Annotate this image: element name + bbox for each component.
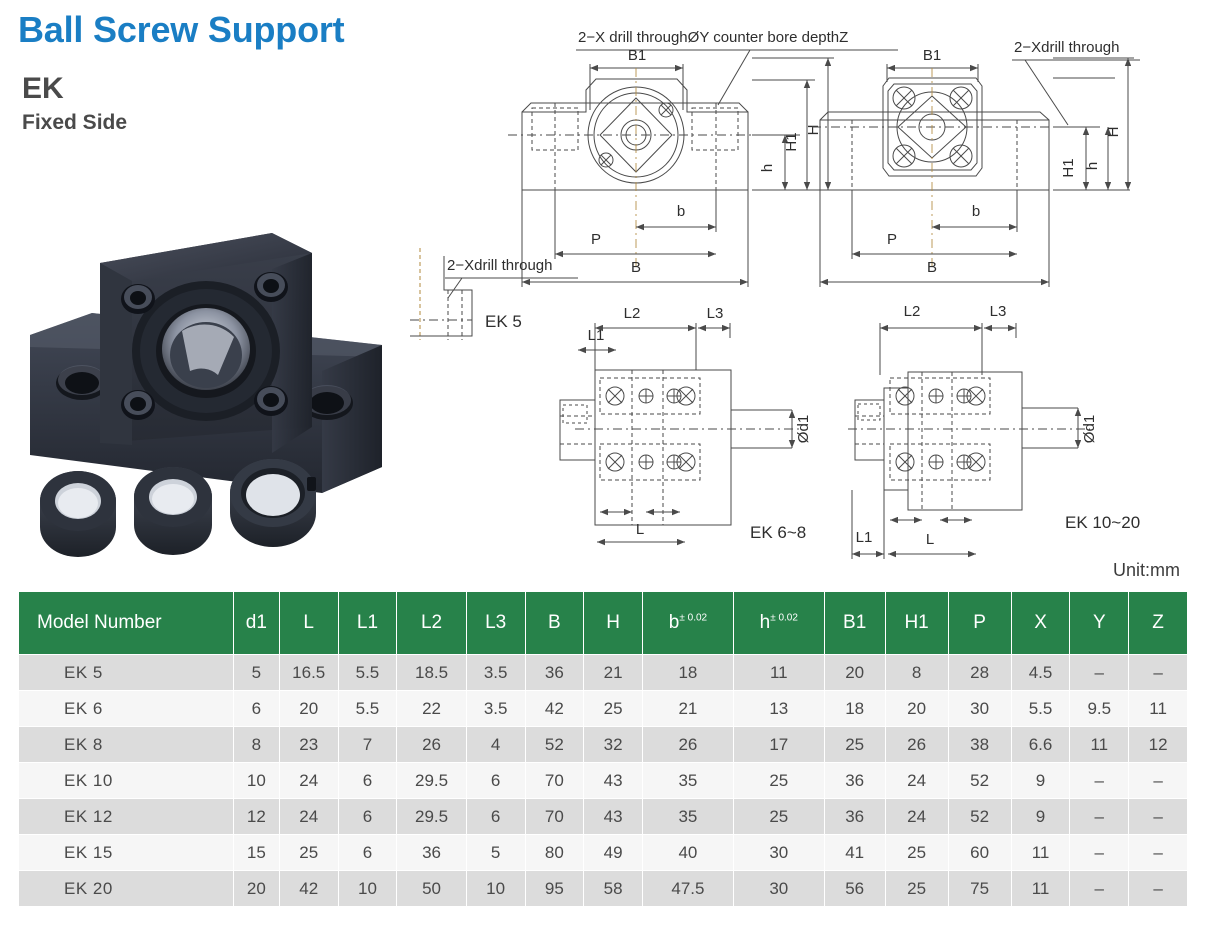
cell-H: 43 [584,763,642,798]
cell-L3: 3.5 [467,655,525,690]
cell-H1: 8 [886,655,948,690]
svg-text:L3: L3 [990,303,1007,320]
cell-H: 21 [584,655,642,690]
cell-Y: – [1070,835,1128,870]
cell-model: EK 15 [19,835,233,870]
cell-L2: 29.5 [397,763,465,798]
table-row: EK 202042105010955847.53056257511–– [19,871,1187,906]
column-header-h: h± 0.02 [734,592,824,654]
column-header-B1: B1 [825,592,885,654]
cell-B: 70 [526,763,584,798]
cell-h: 25 [734,799,824,834]
svg-text:P: P [591,231,601,248]
cell-d1: 6 [234,691,279,726]
cell-L: 25 [280,835,338,870]
cell-P: 60 [949,835,1011,870]
cell-L3: 4 [467,727,525,762]
cell-Z: – [1129,763,1187,798]
column-header-Y: Y [1070,592,1128,654]
engineering-drawings: 2−X drill throughØY counter bore depthZ … [400,20,1195,565]
cell-b: 18 [643,655,733,690]
cell-X: 11 [1012,871,1070,906]
column-header-d1: d1 [234,592,279,654]
cell-L: 20 [280,691,338,726]
page-subtitle: Fixed Side [22,111,344,134]
specification-table: Model Numberd1LL1L2L3BHb± 0.02h± 0.02B1H… [18,591,1188,907]
cell-B1: 25 [825,727,885,762]
column-header-L2: L2 [397,592,465,654]
cell-model: EK 20 [19,871,233,906]
cell-H1: 25 [886,871,948,906]
cell-L1: 7 [339,727,397,762]
cell-L2: 29.5 [397,799,465,834]
cell-B: 36 [526,655,584,690]
cell-L: 16.5 [280,655,338,690]
cell-H1: 24 [886,799,948,834]
cell-Y: – [1070,799,1128,834]
model-series-title: EK [22,72,344,105]
cell-Z: – [1129,799,1187,834]
cell-Z: – [1129,655,1187,690]
cell-P: 75 [949,871,1011,906]
column-header-L1: L1 [339,592,397,654]
column-header-H1: H1 [886,592,948,654]
cell-L2: 22 [397,691,465,726]
cell-B1: 36 [825,799,885,834]
cell-H: 43 [584,799,642,834]
cell-d1: 15 [234,835,279,870]
cell-P: 30 [949,691,1011,726]
cell-L2: 26 [397,727,465,762]
cell-b: 35 [643,763,733,798]
svg-text:B: B [927,259,937,276]
cell-L2: 36 [397,835,465,870]
caption-ek5: EK 5 [485,312,522,331]
cell-L2: 50 [397,871,465,906]
cell-X: 9 [1012,799,1070,834]
cell-model: EK 6 [19,691,233,726]
column-header-b: b± 0.02 [643,592,733,654]
svg-text:L3: L3 [707,305,724,322]
svg-text:L2: L2 [624,305,641,322]
column-header-H: H [584,592,642,654]
cell-P: 38 [949,727,1011,762]
cell-B1: 18 [825,691,885,726]
cell-d1: 10 [234,763,279,798]
table-row: EK 66205.5223.5422521131820305.59.511 [19,691,1187,726]
cell-d1: 5 [234,655,279,690]
svg-text:B1: B1 [628,47,646,64]
unit-label: Unit:mm [1113,560,1180,581]
cell-X: 9 [1012,763,1070,798]
cell-L1: 6 [339,799,397,834]
product-photo [22,205,392,565]
page-title: Ball Screw Support [18,10,344,50]
svg-text:L2: L2 [904,303,921,320]
cell-L: 23 [280,727,338,762]
table-row: EK 88237264523226172526386.61112 [19,727,1187,762]
svg-text:h: h [759,164,776,172]
cell-L1: 6 [339,763,397,798]
cell-model: EK 10 [19,763,233,798]
cell-model: EK 8 [19,727,233,762]
cell-d1: 12 [234,799,279,834]
column-header-B: B [526,592,584,654]
svg-text:H1: H1 [783,132,800,151]
cell-L3: 3.5 [467,691,525,726]
svg-text:L: L [926,531,934,548]
note-counter-bore: 2−X drill throughØY counter bore depthZ [578,29,848,46]
cell-L: 24 [280,799,338,834]
svg-text:L1: L1 [856,529,873,546]
svg-text:P: P [887,231,897,248]
cell-B1: 36 [825,763,885,798]
note-drill-through-left: 2−Xdrill through [447,257,552,274]
cell-L1: 5.5 [339,691,397,726]
svg-text:H: H [1105,127,1122,138]
cell-Y: 11 [1070,727,1128,762]
table-row: EK 101024629.56704335253624529–– [19,763,1187,798]
svg-text:b: b [972,203,980,220]
cell-model: EK 5 [19,655,233,690]
cell-H1: 25 [886,835,948,870]
title-block: Ball Screw Support EK Fixed Side [18,10,344,134]
column-header-Z: Z [1129,592,1187,654]
cell-P: 52 [949,763,1011,798]
cell-H1: 20 [886,691,948,726]
cell-b: 47.5 [643,871,733,906]
svg-text:H1: H1 [1060,158,1077,177]
cell-Z: – [1129,835,1187,870]
table-row: EK 5516.55.518.53.536211811208284.5–– [19,655,1187,690]
cell-h: 11 [734,655,824,690]
cell-L3: 6 [467,799,525,834]
cell-d1: 8 [234,727,279,762]
cell-h: 25 [734,763,824,798]
cell-Y: 9.5 [1070,691,1128,726]
cell-H: 25 [584,691,642,726]
cell-L: 24 [280,763,338,798]
cell-B1: 56 [825,871,885,906]
cell-L2: 18.5 [397,655,465,690]
cell-X: 4.5 [1012,655,1070,690]
cell-H: 58 [584,871,642,906]
cell-B: 70 [526,799,584,834]
cell-model: EK 12 [19,799,233,834]
table-header-row: Model Numberd1LL1L2L3BHb± 0.02h± 0.02B1H… [19,592,1187,654]
cell-L1: 5.5 [339,655,397,690]
column-header-model: Model Number [19,592,233,654]
cell-B: 80 [526,835,584,870]
cell-H1: 26 [886,727,948,762]
cell-H1: 24 [886,763,948,798]
cell-X: 11 [1012,835,1070,870]
svg-text:B1: B1 [923,47,941,64]
svg-text:H: H [805,125,822,136]
cell-d1: 20 [234,871,279,906]
cell-H: 49 [584,835,642,870]
svg-text:B: B [631,259,641,276]
cell-B: 95 [526,871,584,906]
caption-ek6-8: EK 6~8 [750,523,806,542]
cell-b: 26 [643,727,733,762]
note-drill-through-right: 2−Xdrill through [1014,39,1119,56]
cell-Z: 12 [1129,727,1187,762]
cell-b: 35 [643,799,733,834]
cell-L3: 10 [467,871,525,906]
column-header-P: P [949,592,1011,654]
caption-ek10-20: EK 10~20 [1065,513,1140,532]
cell-B: 42 [526,691,584,726]
cell-Y: – [1070,871,1128,906]
cell-P: 52 [949,799,1011,834]
table-row: EK 121224629.56704335253624529–– [19,799,1187,834]
cell-L3: 6 [467,763,525,798]
cell-P: 28 [949,655,1011,690]
svg-text:h: h [1084,162,1101,170]
svg-text:Ød1: Ød1 [795,415,812,443]
column-header-X: X [1012,592,1070,654]
cell-h: 17 [734,727,824,762]
svg-text:Ød1: Ød1 [1081,415,1098,443]
table-row: EK 15152563658049403041256011–– [19,835,1187,870]
cell-h: 13 [734,691,824,726]
cell-X: 5.5 [1012,691,1070,726]
cell-L1: 10 [339,871,397,906]
cell-B1: 20 [825,655,885,690]
cell-H: 32 [584,727,642,762]
cell-Y: – [1070,655,1128,690]
cell-X: 6.6 [1012,727,1070,762]
cell-B: 52 [526,727,584,762]
cell-L: 42 [280,871,338,906]
cell-L3: 5 [467,835,525,870]
column-header-L: L [280,592,338,654]
cell-b: 21 [643,691,733,726]
cell-L1: 6 [339,835,397,870]
cell-Z: – [1129,871,1187,906]
svg-text:L: L [636,521,644,538]
table-body: EK 5516.55.518.53.536211811208284.5––EK … [19,655,1187,906]
svg-text:b: b [677,203,685,220]
cell-h: 30 [734,835,824,870]
cell-h: 30 [734,871,824,906]
cell-Z: 11 [1129,691,1187,726]
cell-Y: – [1070,763,1128,798]
column-header-L3: L3 [467,592,525,654]
svg-text:L1: L1 [588,327,605,344]
cell-b: 40 [643,835,733,870]
cell-B1: 41 [825,835,885,870]
